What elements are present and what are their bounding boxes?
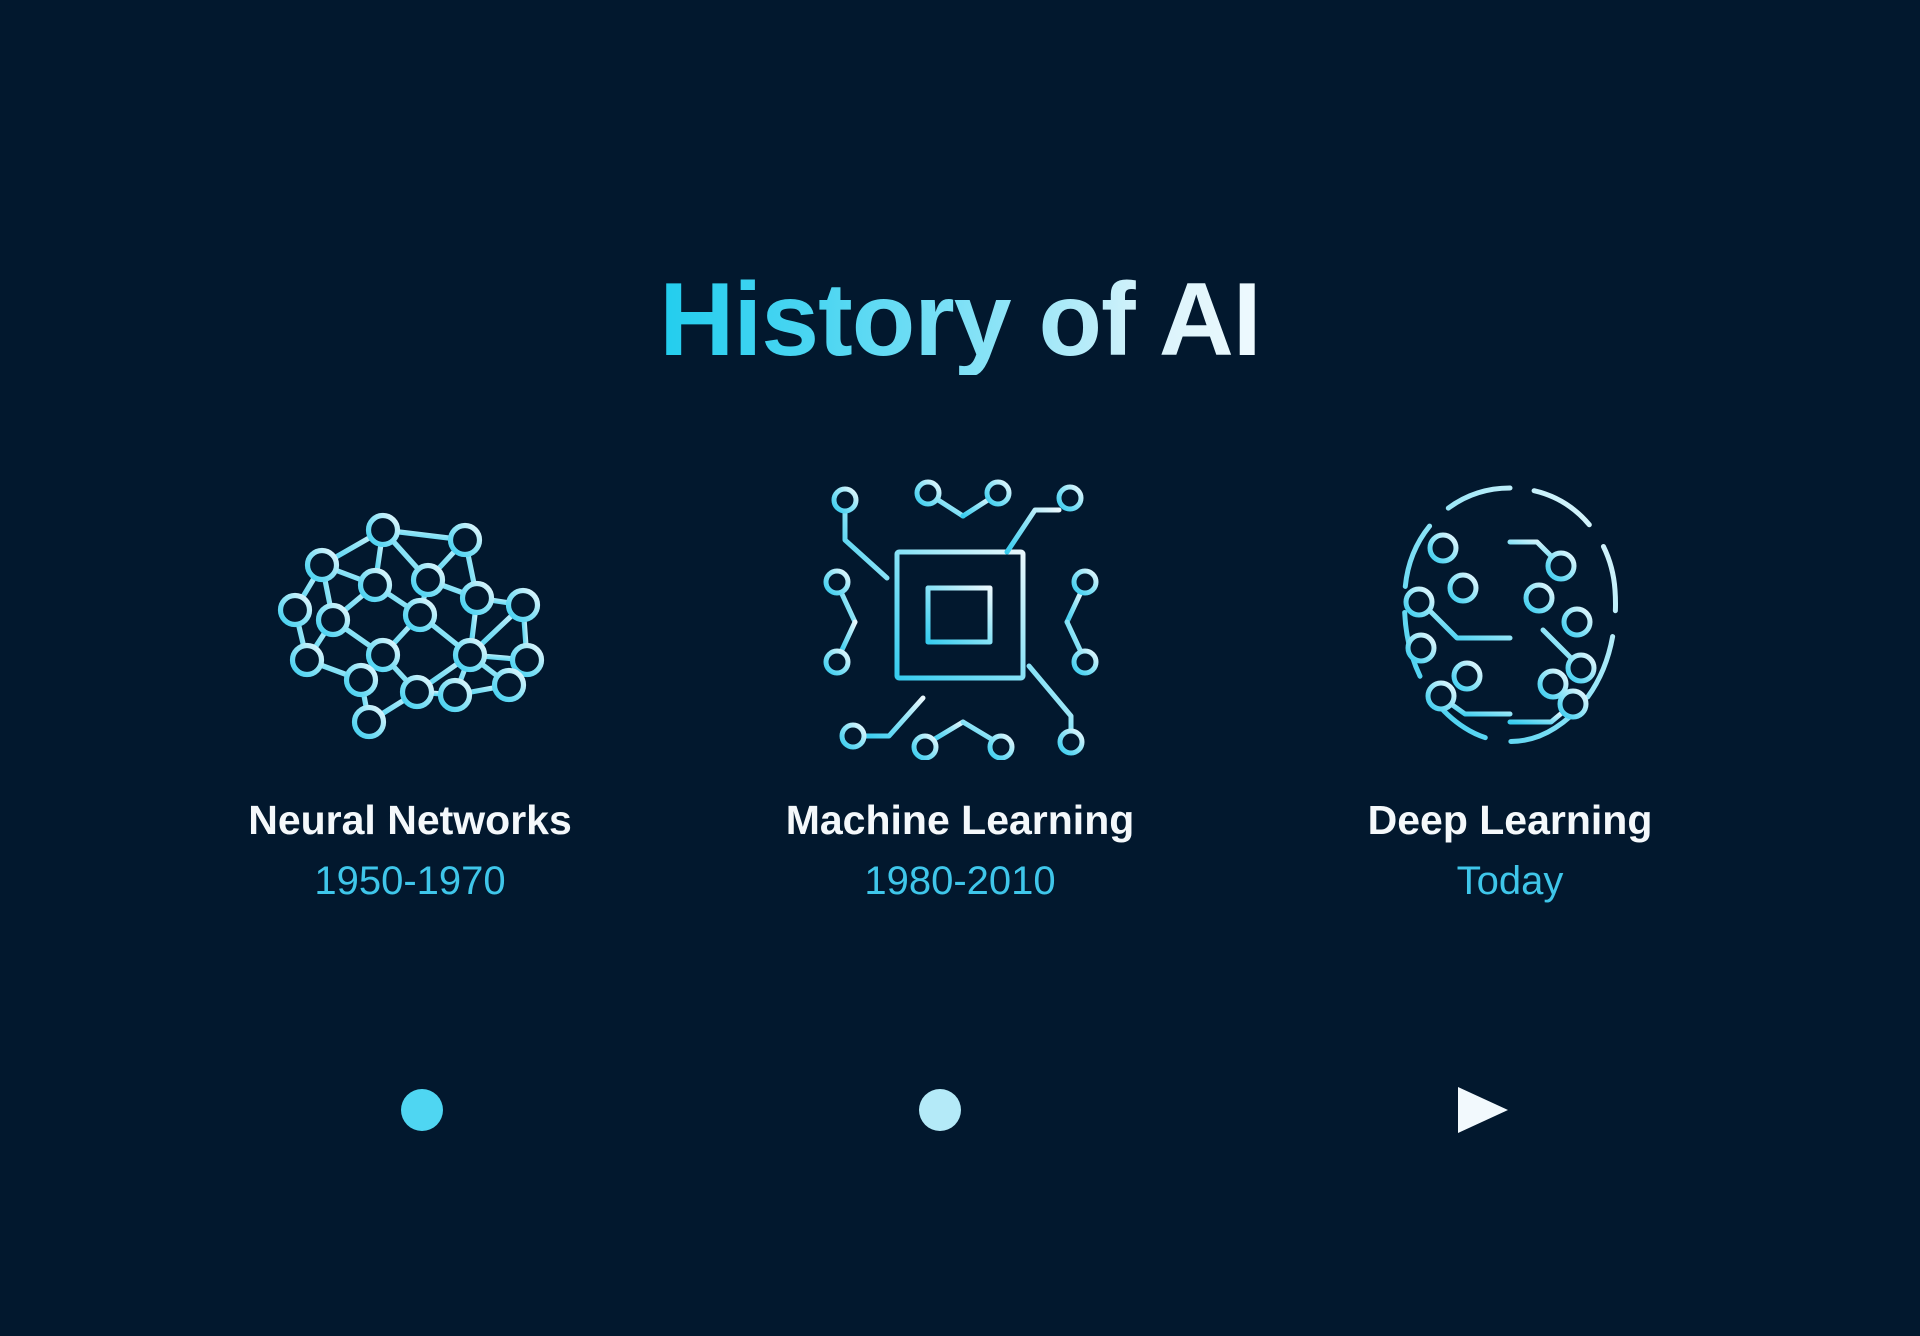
timeline-marker-1 [401, 1089, 443, 1131]
slide-canvas: History of AI [0, 0, 1920, 1336]
card-title: Deep Learning [1368, 798, 1653, 843]
page-title: History of AI [659, 266, 1260, 375]
concept-card-deep-learning[interactable]: Deep Learning Today [1250, 470, 1770, 903]
card-title: Machine Learning [786, 798, 1135, 843]
concept-cards-row: Neural Networks 1950-1970 [150, 470, 1770, 903]
page-title-wrap: History of AI [0, 196, 1920, 445]
concept-card-neural-networks[interactable]: Neural Networks 1950-1970 [150, 470, 670, 903]
card-period: 1950-1970 [314, 859, 505, 903]
concept-card-machine-learning[interactable]: Machine Learning 1980-2010 [700, 470, 1220, 903]
timeline [400, 1065, 1530, 1155]
card-period: 1980-2010 [864, 859, 1055, 903]
deep-learning-brain-circuit-icon [1365, 470, 1655, 760]
card-title: Neural Networks [248, 798, 572, 843]
timeline-arrowhead [1458, 1087, 1508, 1133]
timeline-marker-2 [919, 1089, 961, 1131]
card-period: Today [1457, 859, 1564, 903]
neural-network-brain-icon [265, 470, 555, 760]
ai-chip-circuit-icon [815, 470, 1105, 760]
